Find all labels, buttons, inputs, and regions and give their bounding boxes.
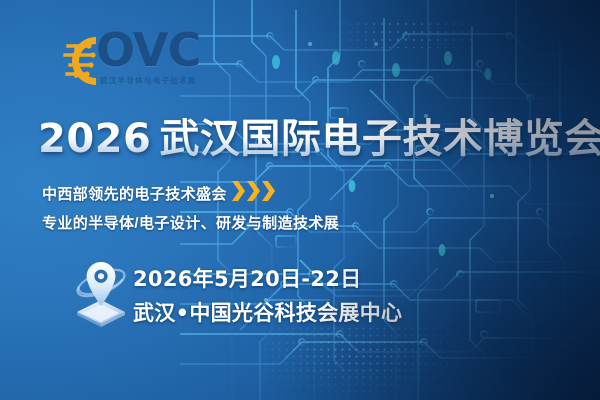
map-pin-icon [74,256,128,328]
chevron-right-icon [232,181,245,201]
triple-chevron-right-icon [232,181,275,201]
banner-title: 2026武汉国际电子技术博览会 [38,118,600,160]
event-banner: OVC 武汉半导体与电子技术展 2026武汉国际电子技术博览会 中西部领先的电子… [0,0,600,400]
tagline-secondary: 专业的半导体/电子设计、研发与制造技术展 [42,212,339,233]
banner-title-name: 武汉国际电子技术博览会 [159,116,600,162]
chevron-right-icon [247,181,260,201]
logo-subtitle: 武汉半导体与电子技术展 [100,75,197,86]
logo-wordmark: OVC [96,27,200,73]
ovc-circuit-mark-icon [56,35,100,87]
ovc-logo: OVC 武汉半导体与电子技术展 [56,31,236,93]
chevron-right-icon [262,181,275,201]
tagline-primary: 中西部领先的电子技术盛会 [42,183,227,204]
event-venue: 武汉•中国光谷科技会展中心 [133,297,402,327]
dot-matrix-pattern-top-icon [330,20,500,48]
dot-matrix-pattern-icon [255,325,455,395]
event-date: 2026年5月20日-22日 [133,263,361,293]
banner-title-year: 2026 [38,116,151,162]
